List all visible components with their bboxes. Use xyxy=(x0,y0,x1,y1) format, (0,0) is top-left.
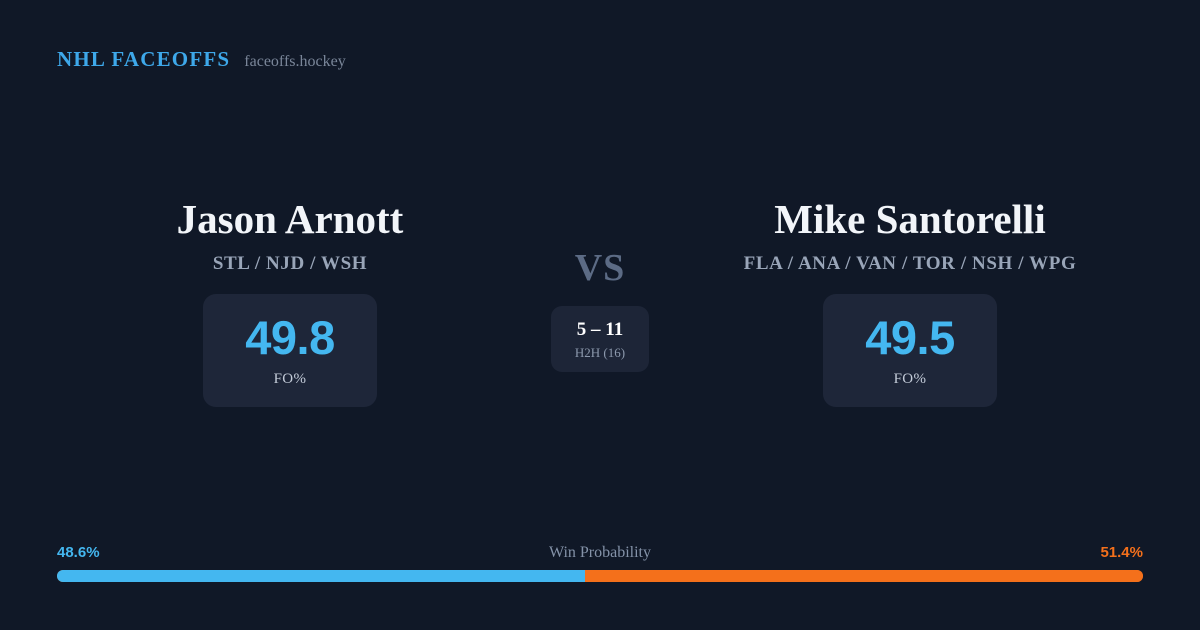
versus-label: VS xyxy=(575,247,626,289)
head-to-head-card: 5 – 11 H2H (16) xyxy=(551,306,649,372)
player-teams-right: FLA / ANA / VAN / TOR / NSH / WPG xyxy=(744,251,1077,277)
win-probability-title: Win Probability xyxy=(57,542,1143,564)
win-probability-bar-right-fill xyxy=(585,570,1143,582)
faceoff-pct-value-left: 49.8 xyxy=(245,312,334,364)
faceoff-pct-label-left: FO% xyxy=(274,369,307,389)
player-card-right[interactable]: Mike Santorelli FLA / ANA / VAN / TOR / … xyxy=(680,192,1140,407)
faceoff-pct-value-right: 49.5 xyxy=(865,312,954,364)
head-to-head-record: 5 – 11 xyxy=(577,318,623,342)
player-name-right: Mike Santorelli xyxy=(774,192,1045,246)
faceoff-stat-card-left: 49.8 FO% xyxy=(203,294,377,407)
win-probability-bar xyxy=(57,570,1143,582)
faceoff-stat-card-right: 49.5 FO% xyxy=(823,294,997,407)
player-teams-left: STL / NJD / WSH xyxy=(213,251,367,277)
site-domain: faceoffs.hockey xyxy=(244,53,345,71)
site-header: NHL FACEOFFS faceoffs.hockey xyxy=(57,47,346,72)
win-probability-section: 48.6% Win Probability 51.4% xyxy=(57,542,1143,582)
player-card-left[interactable]: Jason Arnott STL / NJD / WSH 49.8 FO% xyxy=(60,192,520,407)
brand-title[interactable]: NHL FACEOFFS xyxy=(57,47,230,72)
matchup-section: Jason Arnott STL / NJD / WSH 49.8 FO% VS… xyxy=(0,192,1200,407)
win-probability-right-value: 51.4% xyxy=(1100,542,1143,564)
player-name-left: Jason Arnott xyxy=(177,192,404,246)
faceoff-pct-label-right: FO% xyxy=(894,369,927,389)
head-to-head-label: H2H (16) xyxy=(575,344,625,361)
win-probability-labels: 48.6% Win Probability 51.4% xyxy=(57,542,1143,564)
versus-column: VS 5 – 11 H2H (16) xyxy=(520,192,680,372)
win-probability-bar-left-fill xyxy=(57,570,585,582)
